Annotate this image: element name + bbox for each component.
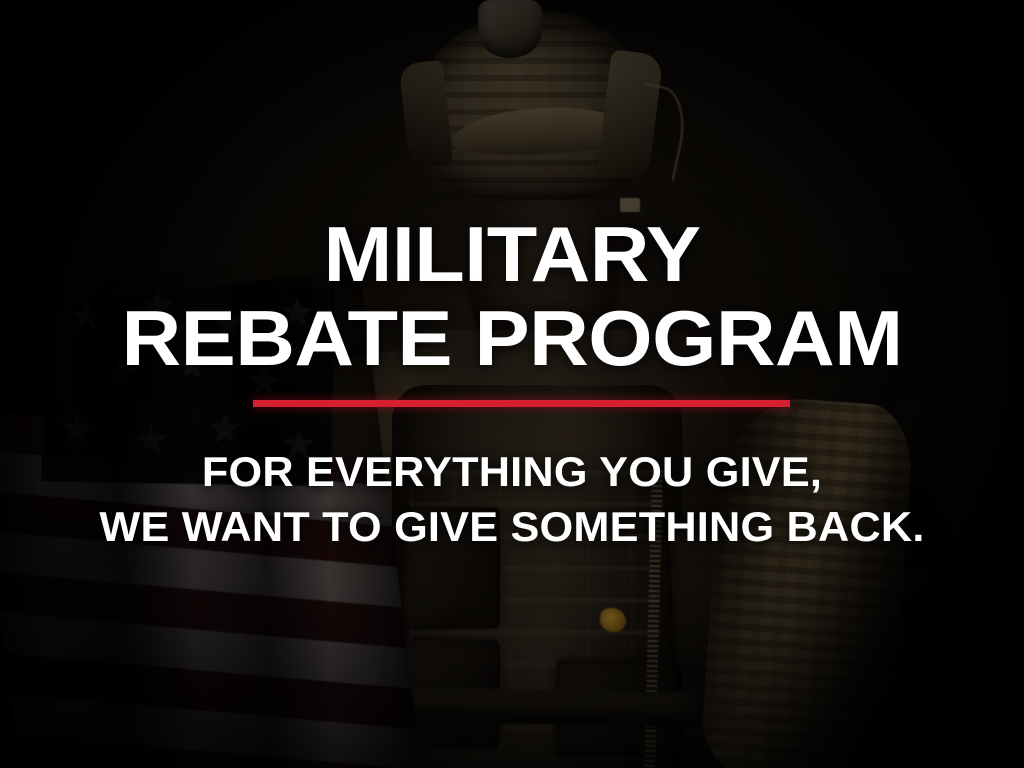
helmet-tag xyxy=(620,198,640,212)
flag-fold-shadows xyxy=(0,268,423,768)
camo-sleeve-right-arm xyxy=(699,394,915,768)
american-flag xyxy=(0,268,423,768)
amber-accent xyxy=(600,608,626,632)
vest-pouch xyxy=(404,508,500,628)
military-rebate-poster: MILITARY REBATE PROGRAM FOR EVERYTHING Y… xyxy=(0,0,1024,768)
nvg-mount-icon xyxy=(478,0,542,58)
utility-belt xyxy=(396,687,697,727)
background-photo xyxy=(0,0,1024,768)
